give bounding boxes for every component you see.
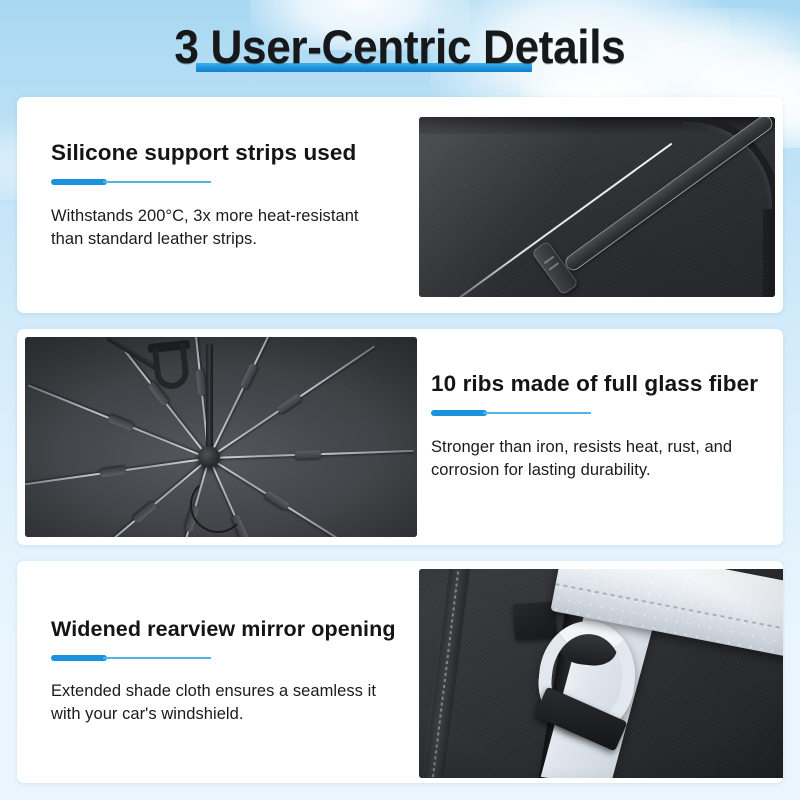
feature-card-silicone-support-strips: Silicone support strips used Withstands … xyxy=(17,97,783,313)
divider-light-segment xyxy=(483,412,591,414)
feature-card-glass-fiber-ribs: 10 ribs made of full glass fiber Stronge… xyxy=(17,329,783,545)
infographic-page: 3 User-Centric Details Silicone support … xyxy=(0,0,800,800)
card-body-text: Extended shade cloth ensures a seamless … xyxy=(51,680,391,725)
divider-accent-segment xyxy=(51,655,107,661)
card-body-text: Withstands 200°C, 3x more heat-resistant… xyxy=(51,205,381,250)
card-text-block: Widened rearview mirror opening Extended… xyxy=(17,561,417,783)
photo-vignette xyxy=(25,337,417,537)
card-headline: Widened rearview mirror opening xyxy=(51,617,396,642)
card-divider xyxy=(51,655,211,661)
photo-sheen xyxy=(419,117,775,297)
page-title: 3 User-Centric Details xyxy=(175,18,626,76)
card-headline: Silicone support strips used xyxy=(51,140,356,166)
card-body-text: Stronger than iron, resists heat, rust, … xyxy=(431,436,771,481)
card-image-silicone-strip xyxy=(419,117,775,297)
card-divider xyxy=(431,410,591,416)
divider-light-segment xyxy=(103,181,211,183)
card-divider xyxy=(51,179,211,185)
photo-vignette xyxy=(419,569,783,778)
divider-accent-segment xyxy=(51,179,107,185)
card-image-umbrella-ribs xyxy=(25,337,417,537)
card-text-block: 10 ribs made of full glass fiber Stronge… xyxy=(415,329,783,545)
card-image-mirror-opening xyxy=(419,569,783,778)
page-header: 3 User-Centric Details xyxy=(0,18,800,76)
divider-accent-segment xyxy=(431,410,487,416)
card-headline: 10 ribs made of full glass fiber xyxy=(431,371,758,397)
divider-light-segment xyxy=(103,657,211,659)
feature-card-rearview-mirror-opening: Widened rearview mirror opening Extended… xyxy=(17,561,783,783)
card-text-block: Silicone support strips used Withstands … xyxy=(17,97,417,313)
